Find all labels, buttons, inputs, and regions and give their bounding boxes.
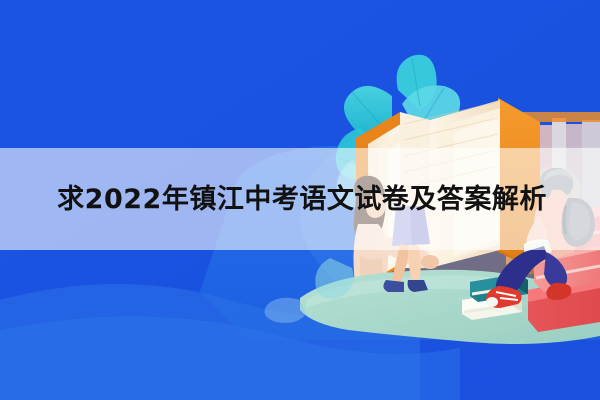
banner-title-text: 求2022年镇江中考语文试卷及答案解析: [57, 186, 547, 213]
banner: 求2022年镇江中考语文试卷及答案解析: [0, 0, 600, 400]
banner-title: 求2022年镇江中考语文试卷及答案解析: [0, 148, 600, 250]
